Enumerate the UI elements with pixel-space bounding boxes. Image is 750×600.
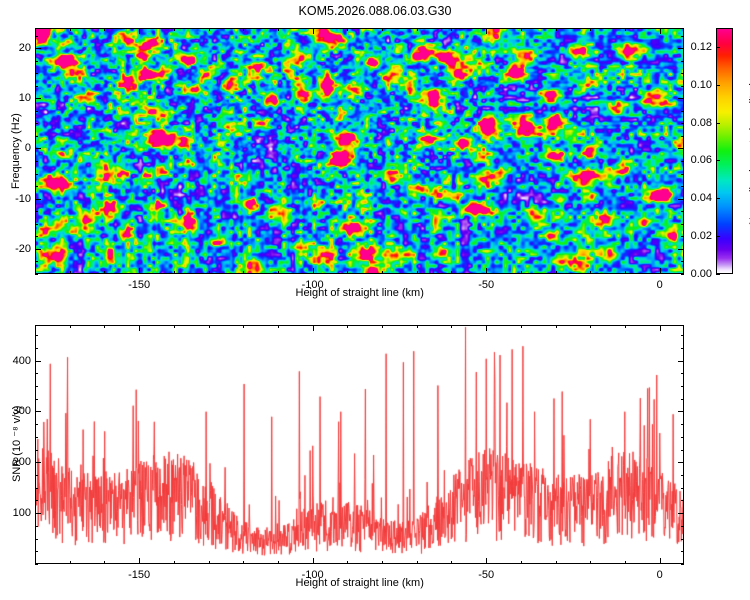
snr-ytick-right <box>681 475 684 476</box>
snr-ytick <box>35 386 38 387</box>
snr-ytick-label: 400 <box>3 355 31 367</box>
snr-ytick <box>35 551 38 552</box>
spectrogram-xtick <box>486 268 487 274</box>
colorbar-tick <box>716 123 720 124</box>
snr-xtick-top <box>278 325 279 328</box>
snr-xtick-top <box>104 325 105 328</box>
snr-xtick <box>417 561 418 564</box>
snr-xtick-label: 0 <box>646 569 674 581</box>
spectrogram-ytick <box>35 98 41 99</box>
snr-xtick <box>347 561 348 564</box>
colorbar-tick <box>716 236 720 237</box>
snr-y-axis-label: SNR (10 ⁻⁸ v/v) <box>10 406 23 482</box>
snr-xtick-label: -50 <box>472 569 500 581</box>
snr-xtick <box>70 561 71 564</box>
snr-xtick <box>382 561 383 564</box>
spectrogram-xtick <box>104 271 105 274</box>
spectrogram-xtick-top <box>625 28 626 31</box>
spectrogram-ytick-right <box>681 186 684 187</box>
snr-xtick <box>625 561 626 564</box>
snr-ytick-right <box>681 500 684 501</box>
snr-xtick-top <box>451 325 452 328</box>
snr-xtick <box>139 558 140 564</box>
snr-ytick-right <box>681 450 684 451</box>
spectrogram-xtick-top <box>313 28 314 34</box>
snr-ytick-right <box>681 373 684 374</box>
spectrogram-ytick <box>35 61 38 62</box>
snr-ytick <box>35 564 38 565</box>
snr-xtick-top <box>521 325 522 328</box>
spectrogram-xtick-label: -150 <box>125 279 153 291</box>
spectrogram-xtick <box>209 271 210 274</box>
spectrogram-ytick <box>35 174 38 175</box>
spectrogram-ytick-label: 20 <box>5 42 31 54</box>
spectrogram-ytick-right <box>681 111 684 112</box>
snr-ytick <box>35 539 38 540</box>
spectrogram-xtick <box>521 271 522 274</box>
snr-xtick-top <box>486 325 487 331</box>
colorbar-tick-label: 0.04 <box>680 192 712 204</box>
snr-ytick <box>35 513 41 514</box>
snr-ytick-right <box>681 564 684 565</box>
snr-ytick <box>35 424 38 425</box>
spectrogram-xtick-top <box>417 28 418 31</box>
spectrogram-xtick <box>347 271 348 274</box>
snr-xtick <box>660 558 661 564</box>
snr-ytick-right <box>681 526 684 527</box>
spectrogram-xtick-top <box>278 28 279 31</box>
snr-ytick <box>35 361 41 362</box>
snr-xtick <box>104 561 105 564</box>
spectrogram-xtick-top <box>104 28 105 31</box>
spectrogram-ytick <box>35 148 41 149</box>
snr-ytick-right <box>678 462 684 463</box>
spectrogram-xtick <box>382 271 383 274</box>
snr-ytick-label: 100 <box>3 507 31 519</box>
snr-ytick-right <box>681 335 684 336</box>
spectrogram-ytick <box>35 161 38 162</box>
snr-ytick <box>35 399 38 400</box>
snr-xtick-top <box>556 325 557 328</box>
figure-root: KOM5.2026.088.06.03.G30 -150-100-500-20-… <box>0 0 750 600</box>
spectrogram-ytick-right <box>681 174 684 175</box>
spectrogram-ytick-right <box>681 211 684 212</box>
spectrogram-ytick-label: -20 <box>5 243 31 255</box>
spectrogram-xtick <box>625 271 626 274</box>
snr-ytick-right <box>681 437 684 438</box>
snr-xtick-top <box>313 325 314 331</box>
snr-ytick <box>35 437 38 438</box>
snr-ytick-right <box>681 348 684 349</box>
snr-ytick <box>35 335 38 336</box>
spectrogram-ytick-right <box>681 224 684 225</box>
spectrogram-ytick <box>35 199 41 200</box>
spectrogram-ytick <box>35 136 38 137</box>
spectrogram-xtick-top <box>590 28 591 31</box>
spectrogram-ytick-label: 10 <box>5 92 31 104</box>
snr-xtick <box>209 561 210 564</box>
spectrogram-xtick-label: 0 <box>646 279 674 291</box>
snr-ytick-right <box>678 361 684 362</box>
spectrogram-ytick-right <box>678 98 684 99</box>
spectrogram-xtick <box>70 271 71 274</box>
spectrogram-xtick <box>313 268 314 274</box>
spectrogram-xtick-top <box>521 28 522 31</box>
spectrogram-ytick-right <box>678 249 684 250</box>
spectrogram-xtick <box>590 271 591 274</box>
spectrogram-xtick <box>451 271 452 274</box>
colorbar-tick-label: 0.12 <box>680 41 712 53</box>
colorbar-tick <box>716 47 720 48</box>
snr-canvas <box>36 326 683 563</box>
spectrogram-xtick <box>660 268 661 274</box>
spectrogram-xtick-top <box>209 28 210 31</box>
snr-ytick <box>35 475 38 476</box>
spectrogram-xtick-top <box>35 28 36 31</box>
colorbar-tick <box>716 198 720 199</box>
spectrogram-ytick-right <box>678 148 684 149</box>
snr-xtick-top <box>660 325 661 331</box>
figure-title: KOM5.2026.088.06.03.G30 <box>0 5 750 18</box>
snr-ytick-right <box>681 488 684 489</box>
spectrogram-xtick-top <box>556 28 557 31</box>
spectrogram-ytick <box>35 86 38 87</box>
spectrogram-ytick <box>35 73 38 74</box>
spectrogram-x-axis-label: Height of straight line (km) <box>296 287 424 299</box>
colorbar-tick-label: 0.00 <box>680 268 712 280</box>
spectrogram-xtick-top <box>486 28 487 34</box>
snr-ytick <box>35 348 38 349</box>
colorbar-tick-label: 0.06 <box>680 154 712 166</box>
snr-xtick <box>243 561 244 564</box>
snr-xtick <box>174 561 175 564</box>
spectrogram-ytick <box>35 261 38 262</box>
spectrogram-ytick <box>35 111 38 112</box>
snr-xtick-top <box>70 325 71 328</box>
spectrogram-ytick <box>35 36 38 37</box>
snr-ytick <box>35 373 38 374</box>
spectrogram-ytick <box>35 123 38 124</box>
snr-xtick-top <box>35 325 36 328</box>
spectrogram-ytick-right <box>681 136 684 137</box>
snr-xtick-top <box>417 325 418 328</box>
snr-ytick <box>35 462 41 463</box>
spectrogram-ytick <box>35 249 41 250</box>
spectrogram-canvas <box>36 29 683 273</box>
spectrogram-xtick <box>556 271 557 274</box>
snr-ytick <box>35 526 38 527</box>
colorbar-tick-label: 0.02 <box>680 230 712 242</box>
snr-ytick <box>35 488 38 489</box>
spectrogram-xtick <box>278 271 279 274</box>
snr-xtick <box>313 558 314 564</box>
snr-plot <box>35 325 684 564</box>
snr-xtick-top <box>243 325 244 328</box>
spectrogram-ytick-label: -10 <box>5 193 31 205</box>
spectrogram-ytick <box>35 236 38 237</box>
spectrogram-xtick-top <box>243 28 244 31</box>
snr-ytick-right <box>681 386 684 387</box>
spectrogram-xtick-top <box>451 28 452 31</box>
snr-xtick-label: -150 <box>125 569 153 581</box>
spectrogram-plot <box>35 28 684 274</box>
spectrogram-ytick-right <box>681 36 684 37</box>
snr-xtick <box>486 558 487 564</box>
spectrogram-ytick <box>35 224 38 225</box>
snr-xtick-top <box>139 325 140 331</box>
colorbar-tick-label: 0.08 <box>680 117 712 129</box>
spectrogram-ytick-right <box>681 261 684 262</box>
spectrogram-ytick-right <box>681 73 684 74</box>
colorbar-tick <box>716 85 720 86</box>
snr-ytick-right <box>681 424 684 425</box>
snr-ytick <box>35 450 38 451</box>
snr-xtick <box>556 561 557 564</box>
snr-xtick-top <box>625 325 626 328</box>
spectrogram-xtick-top <box>139 28 140 34</box>
snr-xtick-top <box>382 325 383 328</box>
snr-ytick-right <box>681 539 684 540</box>
spectrogram-xtick <box>243 271 244 274</box>
spectrogram-xtick-top <box>70 28 71 31</box>
spectrogram-xtick-top <box>174 28 175 31</box>
colorbar-tick <box>716 274 720 275</box>
snr-xtick <box>278 561 279 564</box>
spectrogram-ytick <box>35 186 38 187</box>
spectrogram-xtick-top <box>347 28 348 31</box>
spectrogram-ytick <box>35 211 38 212</box>
spectrogram-xtick-top <box>660 28 661 34</box>
snr-x-axis-label: Height of straight line (km) <box>296 577 424 589</box>
spectrogram-xtick <box>417 271 418 274</box>
snr-xtick-top <box>590 325 591 328</box>
snr-ytick-right <box>678 411 684 412</box>
spectrogram-xtick-top <box>382 28 383 31</box>
colorbar-tick <box>716 160 720 161</box>
snr-ytick-right <box>681 399 684 400</box>
snr-xtick-top <box>174 325 175 328</box>
spectrogram-xtick-label: -50 <box>472 279 500 291</box>
spectrogram-y-axis-label: Frequency (Hz) <box>10 113 22 189</box>
spectrogram-ytick <box>35 274 38 275</box>
spectrogram-ytick-right <box>681 61 684 62</box>
snr-ytick-right <box>678 513 684 514</box>
snr-ytick <box>35 500 38 501</box>
spectrogram-xtick <box>174 271 175 274</box>
colorbar-tick-label: 0.10 <box>680 79 712 91</box>
snr-ytick-right <box>681 551 684 552</box>
snr-xtick-top <box>347 325 348 328</box>
snr-xtick <box>451 561 452 564</box>
snr-xtick-top <box>209 325 210 328</box>
spectrogram-xtick <box>139 268 140 274</box>
snr-ytick <box>35 411 41 412</box>
spectrogram-ytick <box>35 48 41 49</box>
snr-xtick <box>521 561 522 564</box>
snr-xtick <box>590 561 591 564</box>
